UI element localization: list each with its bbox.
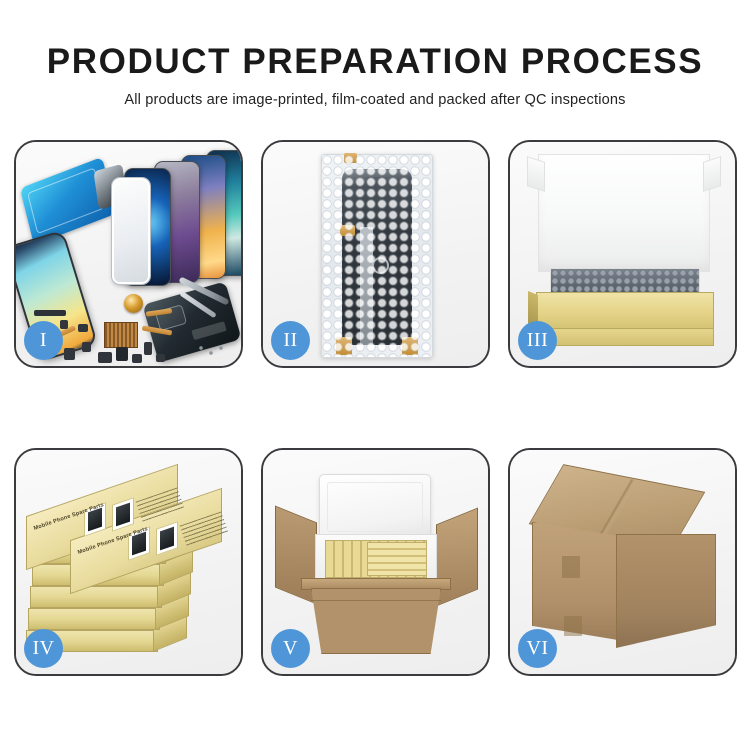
process-step-panel-2: II <box>261 140 490 368</box>
sealed-carton-right-face <box>616 534 716 648</box>
step-badge-1: I <box>24 321 63 360</box>
small-part-icon <box>116 347 128 361</box>
small-part-icon <box>60 320 68 329</box>
step-badge-6: VI <box>518 629 557 668</box>
camera-lens-icon <box>372 257 389 274</box>
carton-seam-line <box>311 600 441 601</box>
page-subtitle: All products are image-printed, film-coa… <box>0 92 750 108</box>
small-part-icon <box>156 354 165 362</box>
small-part-icon <box>98 352 112 363</box>
step-badge-5: V <box>271 629 310 668</box>
wrapped-phone-part-icon <box>342 169 412 345</box>
small-part-icon <box>64 348 75 360</box>
process-step-panel-3: III <box>508 140 737 368</box>
box-lid-open-icon <box>538 154 710 272</box>
carton-tape-patch <box>564 616 582 636</box>
header: PRODUCT PREPARATION PROCESS All products… <box>0 0 750 108</box>
speaker-bar-icon <box>34 310 66 316</box>
step-badge-4: IV <box>24 629 63 668</box>
carton-body-icon <box>311 588 441 654</box>
adhesive-tab-icon <box>344 153 357 163</box>
copper-coil-icon <box>124 294 143 313</box>
small-part-icon <box>144 342 152 355</box>
stacked-box-item <box>30 586 162 608</box>
lcd-flex-assembly-icon <box>20 157 116 245</box>
yellow-mailer-box-front-icon <box>536 328 714 346</box>
small-part-icon <box>82 342 91 352</box>
bubble-wrap-bag-icon <box>321 154 433 358</box>
adhesive-tab-icon <box>340 225 355 236</box>
screen-protector-icon <box>112 178 150 284</box>
process-step-panel-5: V <box>261 448 490 676</box>
process-step-panel-6: VI <box>508 448 737 676</box>
adhesive-tab-icon <box>402 337 418 355</box>
carton-tape-patch <box>562 556 580 578</box>
process-step-panel-4: Mobile Phone Spare Parts Mobile Phone Sp… <box>14 448 243 676</box>
stacked-box-item <box>28 608 160 630</box>
page-title: PRODUCT PREPARATION PROCESS <box>0 44 750 81</box>
carton-flap-right-icon <box>436 508 478 607</box>
product-preparation-infographic: PRODUCT PREPARATION PROCESS All products… <box>0 0 750 750</box>
chip-grid-icon <box>104 322 138 348</box>
screws-icon <box>197 344 227 358</box>
adhesive-tab-icon <box>336 337 352 355</box>
process-step-panel-1: I <box>14 140 243 368</box>
step-badge-2: II <box>271 321 310 360</box>
styrofoam-lid-icon <box>319 474 431 540</box>
small-part-icon <box>78 324 88 332</box>
packed-yellow-boxes-icon <box>367 542 427 576</box>
process-step-grid: I II <box>14 140 736 676</box>
part-strip-icon <box>360 227 373 345</box>
small-part-icon <box>132 354 142 363</box>
step-badge-3: III <box>518 321 557 360</box>
